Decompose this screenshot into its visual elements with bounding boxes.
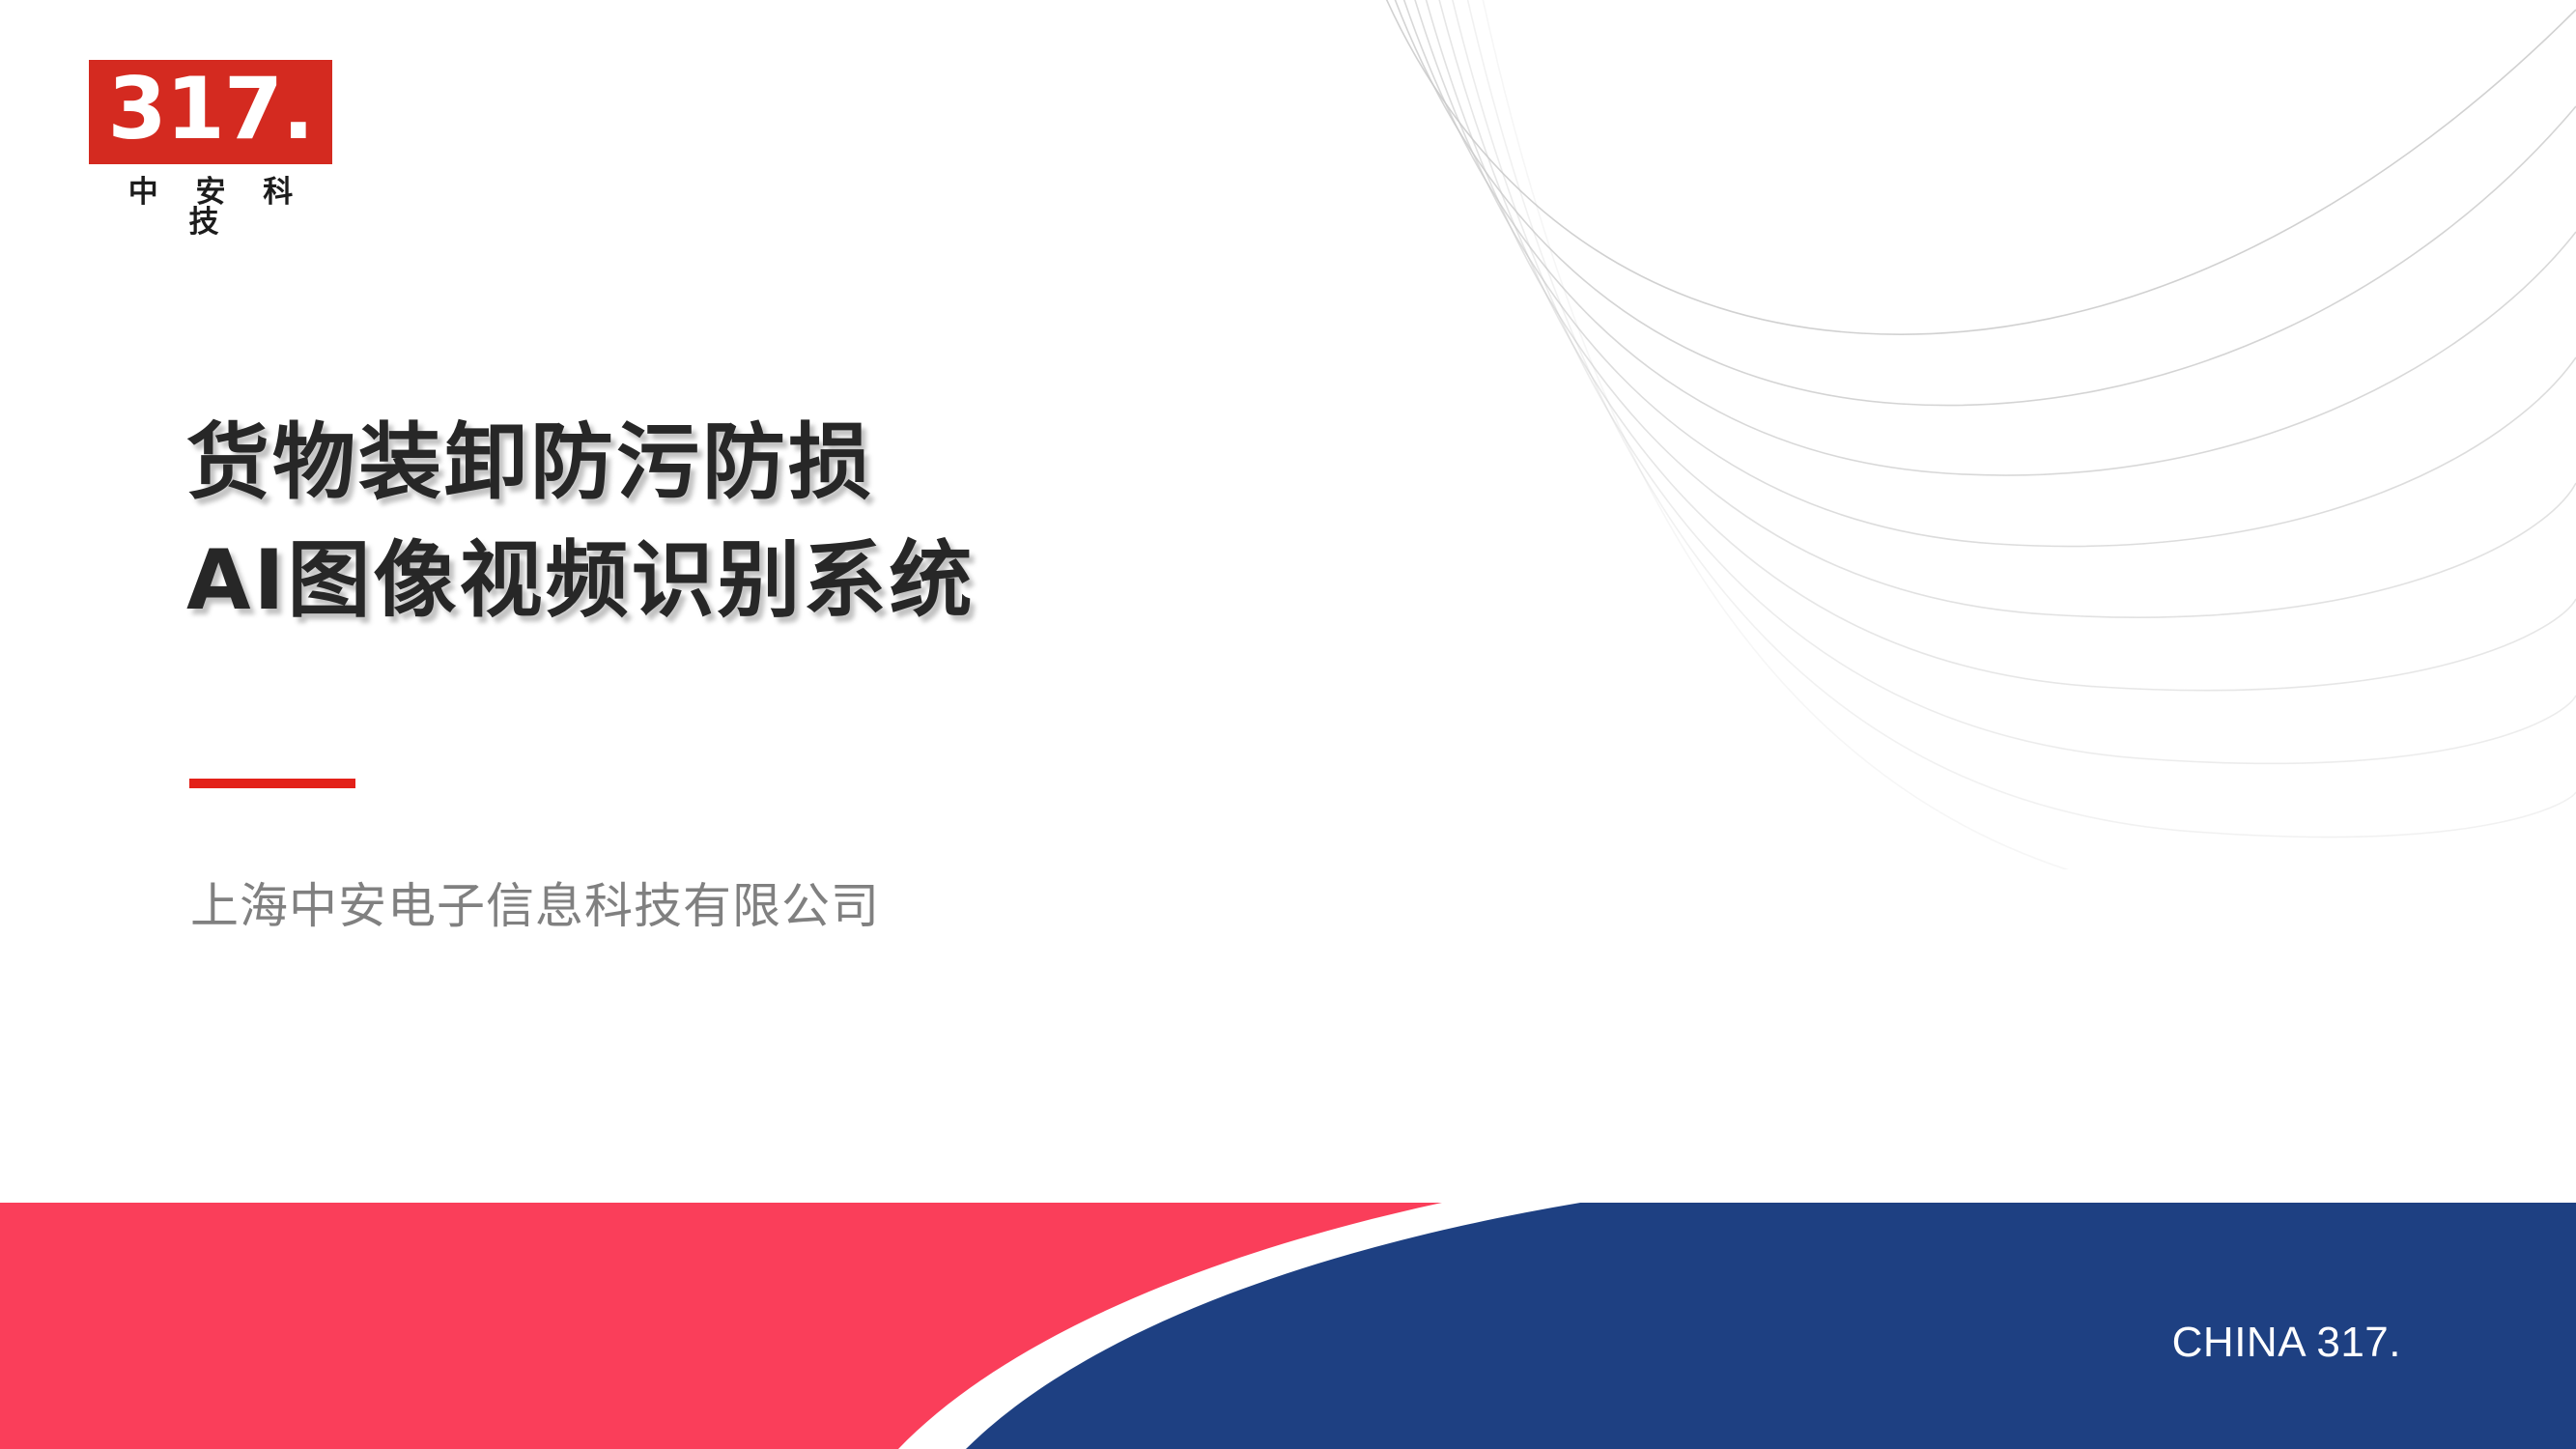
footer-brand-label: CHINA 317. — [2172, 1321, 2401, 1364]
logo-company-short-name: 中 安 科 技 — [89, 178, 332, 238]
company-full-name: 上海中安电子信息科技有限公司 — [190, 877, 880, 935]
title-divider — [189, 779, 355, 788]
logo-mark-text: 317. — [107, 67, 313, 152]
page-title: 货物装卸防污防损 AI图像视频识别系统 — [186, 404, 976, 639]
company-logo: 317. 中 安 科 技 — [89, 60, 332, 238]
title-line-2: AI图像视频识别系统 — [186, 522, 976, 639]
title-line-1: 货物装卸防污防损 — [186, 404, 976, 522]
footer-banner: CHINA 317. — [0, 1203, 2576, 1449]
presentation-slide: 317. 中 安 科 技 货物装卸防污防损 AI图像视频识别系统 上海中安电子信… — [0, 0, 2576, 1449]
decorative-curves — [1320, 0, 2576, 869]
logo-mark: 317. — [89, 60, 332, 164]
